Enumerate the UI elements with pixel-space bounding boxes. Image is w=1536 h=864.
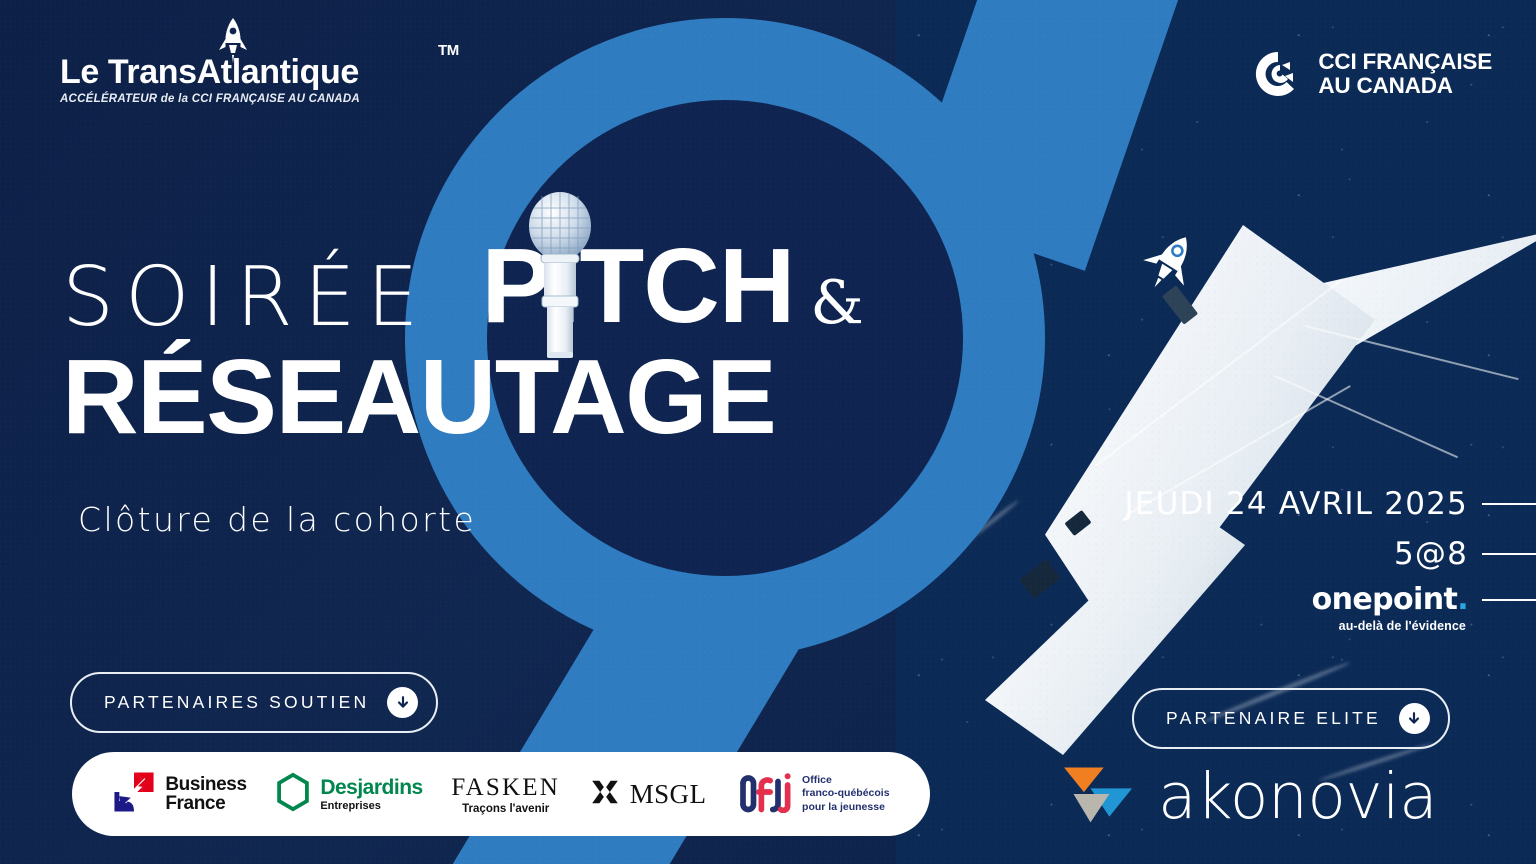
headline-ampersand: &	[810, 276, 863, 335]
rule-dash	[1482, 599, 1536, 601]
event-time-row: 5@8	[1066, 536, 1536, 572]
poster-canvas: Le TransAtlantique TM ACCÉLÉRATEUR de la…	[0, 0, 1536, 864]
cci-line-2: AU CANADA	[1318, 74, 1492, 98]
bf-line-2: France	[165, 794, 246, 813]
onepoint-logo: onepoint.	[1312, 582, 1468, 617]
brand-name-row: Le TransAtlantique TM	[60, 55, 460, 89]
business-france-arrow-icon	[112, 770, 156, 819]
business-france-wordmark: Business France	[165, 775, 246, 814]
event-time: 5@8	[1394, 536, 1468, 572]
fasken-wordmark: FASKEN	[451, 774, 560, 802]
rocket-icon	[1138, 228, 1204, 294]
brand-logo[interactable]: Le TransAtlantique TM ACCÉLÉRATEUR de la…	[60, 55, 460, 105]
desjardins-wordmark: Desjardins Entreprises	[320, 777, 422, 812]
cci-logo[interactable]: CCI FRANÇAISE AU CANADA	[1252, 48, 1492, 100]
microphone-icon	[524, 186, 596, 361]
event-date-row: JEUDI 24 AVRIL 2025	[1066, 486, 1536, 522]
akonovia-wordmark: akonovia	[1158, 765, 1437, 828]
ofqj-line-2: franco-québécois	[802, 787, 890, 800]
akonovia-triangles-icon	[1062, 760, 1136, 833]
ofqj-line-1: Office	[802, 774, 890, 787]
ofqj-description: Office franco-québécois pour la jeunesse	[802, 774, 890, 814]
sponsor-row[interactable]: onepoint.	[1066, 582, 1536, 617]
msgl-x-icon	[589, 776, 621, 813]
desjardins-name: Desjardins	[320, 777, 422, 798]
msgl-wordmark: MSGL	[630, 779, 707, 810]
partenaire-elite-button[interactable]: PARTENAIRE ELITE	[1132, 688, 1450, 749]
rule-dash	[1482, 553, 1536, 555]
arrow-down-icon	[387, 687, 418, 718]
arrow-down-icon	[1399, 703, 1430, 734]
brand-tagline: ACCÉLÉRATEUR de la CCI FRANÇAISE AU CANA…	[60, 93, 460, 105]
ofqj-mark-icon	[735, 771, 793, 818]
partenaire-elite-label: PARTENAIRE ELITE	[1166, 708, 1381, 729]
elite-partner-akonovia[interactable]: akonovia	[1062, 760, 1437, 833]
bf-line-1: Business	[165, 775, 246, 794]
partner-desjardins[interactable]: Desjardins Entreprises	[275, 772, 422, 817]
trademark-symbol: TM	[438, 43, 459, 58]
onepoint-dot: .	[1457, 582, 1468, 617]
cci-circle-mark-icon	[1252, 48, 1304, 100]
desjardins-sub: Entreprises	[320, 800, 422, 812]
ofqj-line-3: pour la jeunesse	[802, 801, 890, 814]
partner-business-france[interactable]: Business France	[112, 770, 246, 819]
onepoint-wordmark: onepoint	[1312, 582, 1458, 617]
brand-name: Le TransAtlantique	[60, 53, 359, 91]
partner-msgl[interactable]: MSGL	[589, 776, 707, 813]
rocket-icon	[216, 17, 250, 63]
support-partners-bar: Business France Desjardins Entreprises F…	[72, 752, 930, 836]
onepoint-tagline: au-delà de l'évidence	[1066, 619, 1536, 633]
headline-word-soiree: SOIRÉE	[62, 260, 429, 335]
partner-fasken[interactable]: FASKEN Traçons l'avenir	[451, 774, 560, 815]
desjardins-hexagon-icon	[275, 772, 311, 817]
partenaires-soutien-button[interactable]: PARTENAIRES SOUTIEN	[70, 672, 438, 733]
event-details: JEUDI 24 AVRIL 2025 5@8 onepoint. au-del…	[1066, 486, 1536, 633]
cci-wordmark: CCI FRANÇAISE AU CANADA	[1318, 50, 1492, 98]
cci-line-1: CCI FRANÇAISE	[1318, 50, 1492, 74]
partner-ofqj[interactable]: Office franco-québécois pour la jeunesse	[735, 771, 890, 818]
headline-subtitle: Clôture de la cohorte	[78, 500, 476, 539]
partenaires-soutien-label: PARTENAIRES SOUTIEN	[104, 692, 369, 713]
rule-dash	[1482, 503, 1536, 505]
event-date: JEUDI 24 AVRIL 2025	[1124, 486, 1468, 522]
fasken-tagline: Traçons l'avenir	[451, 803, 560, 815]
cockpit-hatch	[1019, 559, 1061, 599]
sailboat-illustration	[975, 215, 1536, 735]
